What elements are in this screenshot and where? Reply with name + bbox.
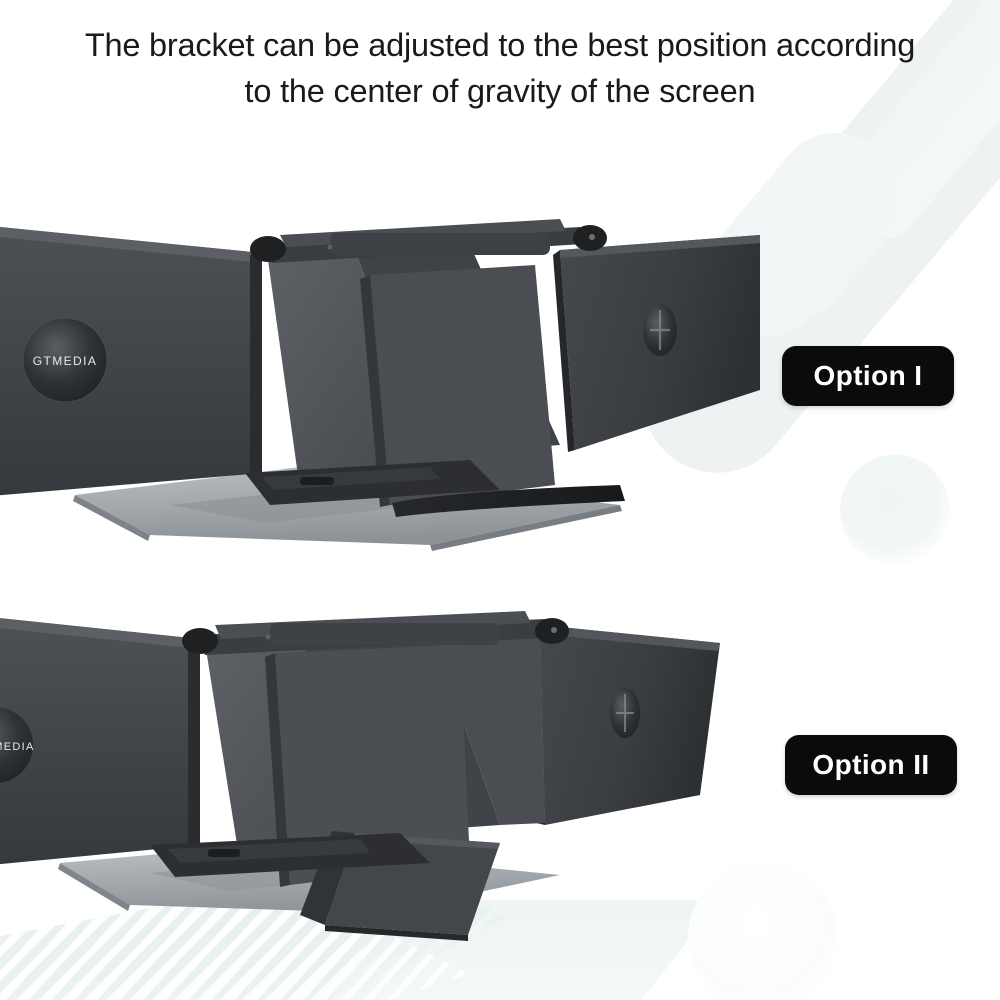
headline-line-2: to the center of gravity of the screen: [245, 73, 756, 109]
soft-circle-decoration: [840, 455, 950, 565]
right-monitor-panel: [553, 235, 760, 452]
left-monitor-panel: GTMEDIA: [0, 615, 200, 867]
bracket-port-slot: [300, 477, 334, 485]
product-illustration-2: GTMEDIA: [0, 595, 790, 955]
headline-line-1: The bracket can be adjusted to the best …: [85, 27, 915, 63]
brand-logo-text: GTMEDIA: [0, 741, 35, 753]
left-monitor-panel: GTMEDIA: [0, 225, 262, 497]
hinge-cap-left-icon: [250, 236, 286, 262]
badge-option-1-label: Option I: [814, 360, 923, 392]
hinge-cap-left-icon: [182, 628, 218, 654]
hinge-center-clip: [330, 233, 550, 255]
badge-option-1: Option I: [782, 346, 954, 406]
badge-option-2: Option II: [785, 735, 957, 795]
bracket-port-slot: [208, 849, 240, 857]
product-marketing-image: The bracket can be adjusted to the best …: [0, 0, 1000, 1000]
product-photo-option-2: GTMEDIA: [0, 595, 790, 955]
product-illustration-1: GTMEDIA: [0, 205, 790, 555]
right-monitor-panel: [531, 625, 720, 825]
badge-option-2-label: Option II: [812, 749, 929, 781]
headline-text: The bracket can be adjusted to the best …: [0, 22, 1000, 114]
product-photo-option-1: GTMEDIA: [0, 205, 790, 555]
brand-logo-text: GTMEDIA: [33, 354, 97, 368]
hinge-center-clip: [270, 623, 500, 645]
